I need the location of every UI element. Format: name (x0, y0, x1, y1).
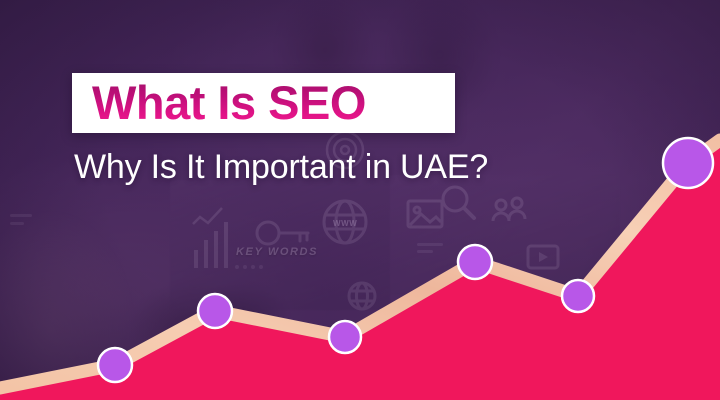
seo-banner: KEY WORDS WWW What Is SEO Why Is It Impo… (0, 0, 720, 400)
growth-line-chart (0, 0, 720, 400)
page-title: What Is SEO (92, 74, 440, 132)
chart-marker (98, 348, 132, 382)
chart-marker (198, 294, 232, 328)
chart-marker (562, 280, 594, 312)
chart-marker (458, 245, 492, 279)
chart-marker (329, 321, 361, 353)
chart-marker (663, 138, 713, 188)
page-subtitle: Why Is It Important in UAE? (74, 148, 488, 187)
